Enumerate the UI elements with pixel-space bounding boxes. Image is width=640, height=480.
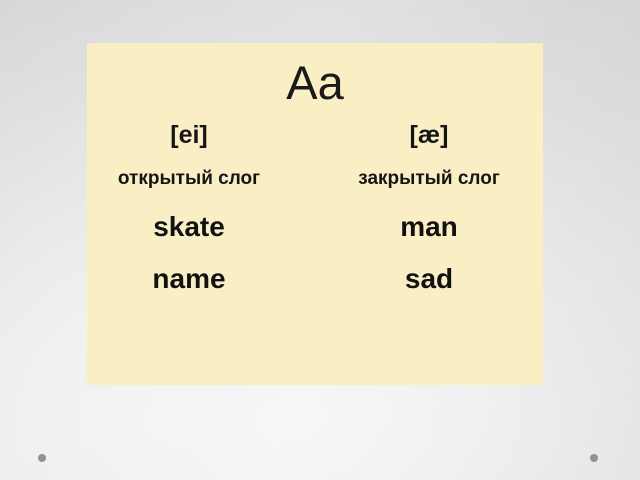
syllable-type-closed: закрытый слог [358,168,500,190]
bullet-dot-icon-left [38,454,46,462]
example-word-man: man [400,213,458,241]
example-word-skate: skate [153,213,225,241]
content-card: Aa [ei] открытый слог skate name [æ] зак… [87,43,543,385]
slide-canvas: Aa [ei] открытый слог skate name [æ] зак… [0,0,640,480]
page-title: Aa [87,59,543,106]
column-open-syllable: [ei] открытый слог skate name [75,123,303,293]
bullet-dot-icon-right [590,454,598,462]
column-closed-syllable: [æ] закрытый слог man sad [315,123,543,293]
syllable-columns: [ei] открытый слог skate name [æ] закрыт… [87,123,543,293]
example-word-sad: sad [405,265,453,293]
phoneme-closed-syllable: [æ] [410,123,449,148]
example-word-name: name [152,265,225,293]
syllable-type-open: открытый слог [118,168,260,190]
phoneme-open-syllable: [ei] [170,123,208,148]
